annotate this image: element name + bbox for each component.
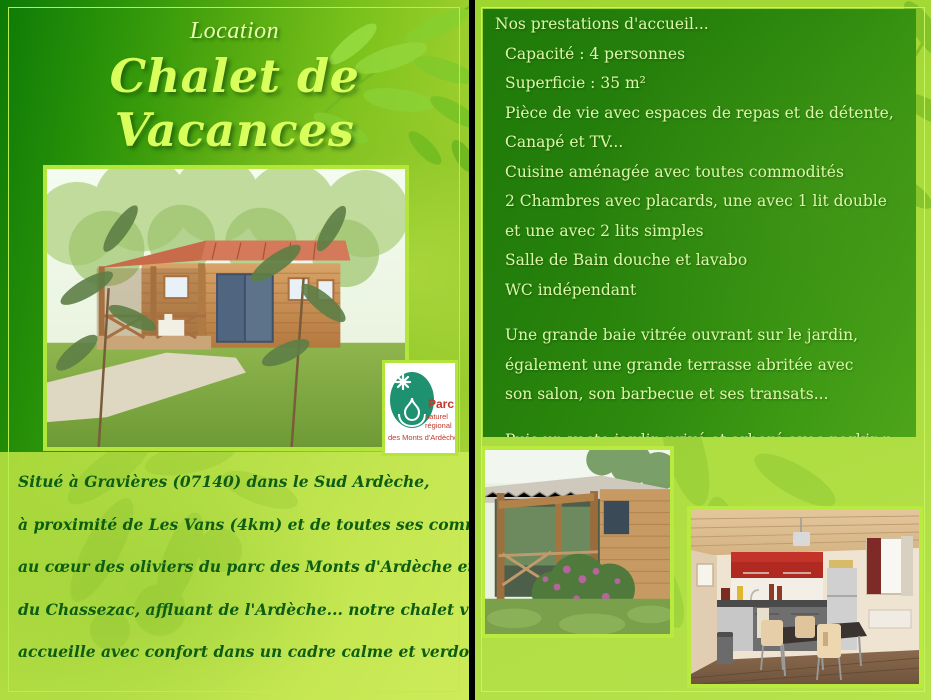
svg-text:Parc: Parc: [428, 397, 454, 411]
parc-logo-icon: Parc naturel régional des Monts d'Ardèch…: [385, 364, 455, 452]
features-block: Nos prestations d'accueil... Capacité : …: [483, 9, 916, 437]
description-line: accueille avec confort dans un cadre cal…: [18, 644, 454, 660]
feature-item: Pièce de vie avec espaces de repas et de…: [483, 106, 916, 122]
page-title: Chalet de Vacances: [0, 49, 469, 157]
description-line: du Chassezac, affluant de l'Ardèche... n…: [18, 602, 454, 618]
svg-text:naturel: naturel: [425, 412, 448, 421]
description-line: au cœur des oliviers du parc des Monts d…: [18, 559, 454, 575]
feature-item: WC indépendant: [483, 283, 916, 299]
parc-naturel-regional-logo: Parc naturel régional des Monts d'Ardèch…: [382, 360, 458, 456]
outdoor-item: Une grande baie vitrée ouvrant sur le ja…: [483, 328, 916, 344]
feature-item: 2 Chambres avec placards, une avec 1 lit…: [483, 194, 916, 210]
kitchen-photo: [687, 506, 923, 688]
outdoor-item: également une grande terrasse abritée av…: [483, 358, 916, 374]
feature-item: et une avec 2 lits simples: [483, 224, 916, 240]
terrace-image: [485, 450, 670, 634]
chalet-exterior-photo: [43, 165, 409, 451]
terrace-photo: [481, 446, 674, 638]
feature-item: Superficie : 35 m²: [483, 76, 916, 92]
feature-item: Salle de Bain douche et lavabo: [483, 253, 916, 269]
closing-line: Puis un vaste jardin privé et arboré ave…: [483, 433, 916, 438]
description-line: Situé à Gravières (07140) dans le Sud Ar…: [18, 474, 454, 490]
chalet-exterior-image: [47, 169, 405, 447]
left-panel: Location Chalet de Vacances Sud Ardèche: [0, 0, 469, 700]
description-line: à proximité de Les Vans (4km) et de tout…: [18, 517, 454, 533]
features-heading: Nos prestations d'accueil...: [483, 17, 916, 33]
location-description: Situé à Gravières (07140) dans le Sud Ar…: [18, 474, 454, 687]
brochure-page: Location Chalet de Vacances Sud Ardèche: [0, 0, 931, 700]
feature-item: Canapé et TV...: [483, 135, 916, 151]
svg-text:régional: régional: [425, 421, 452, 430]
eyebrow-location: Location: [0, 18, 469, 45]
feature-item: Capacité : 4 personnes: [483, 47, 916, 63]
feature-item: Cuisine aménagée avec toutes commodités: [483, 165, 916, 181]
outdoor-item: son salon, son barbecue et ses transats.…: [483, 387, 916, 403]
svg-text:des Monts d'Ardèche: des Monts d'Ardèche: [388, 433, 455, 442]
kitchen-image: [691, 510, 919, 684]
